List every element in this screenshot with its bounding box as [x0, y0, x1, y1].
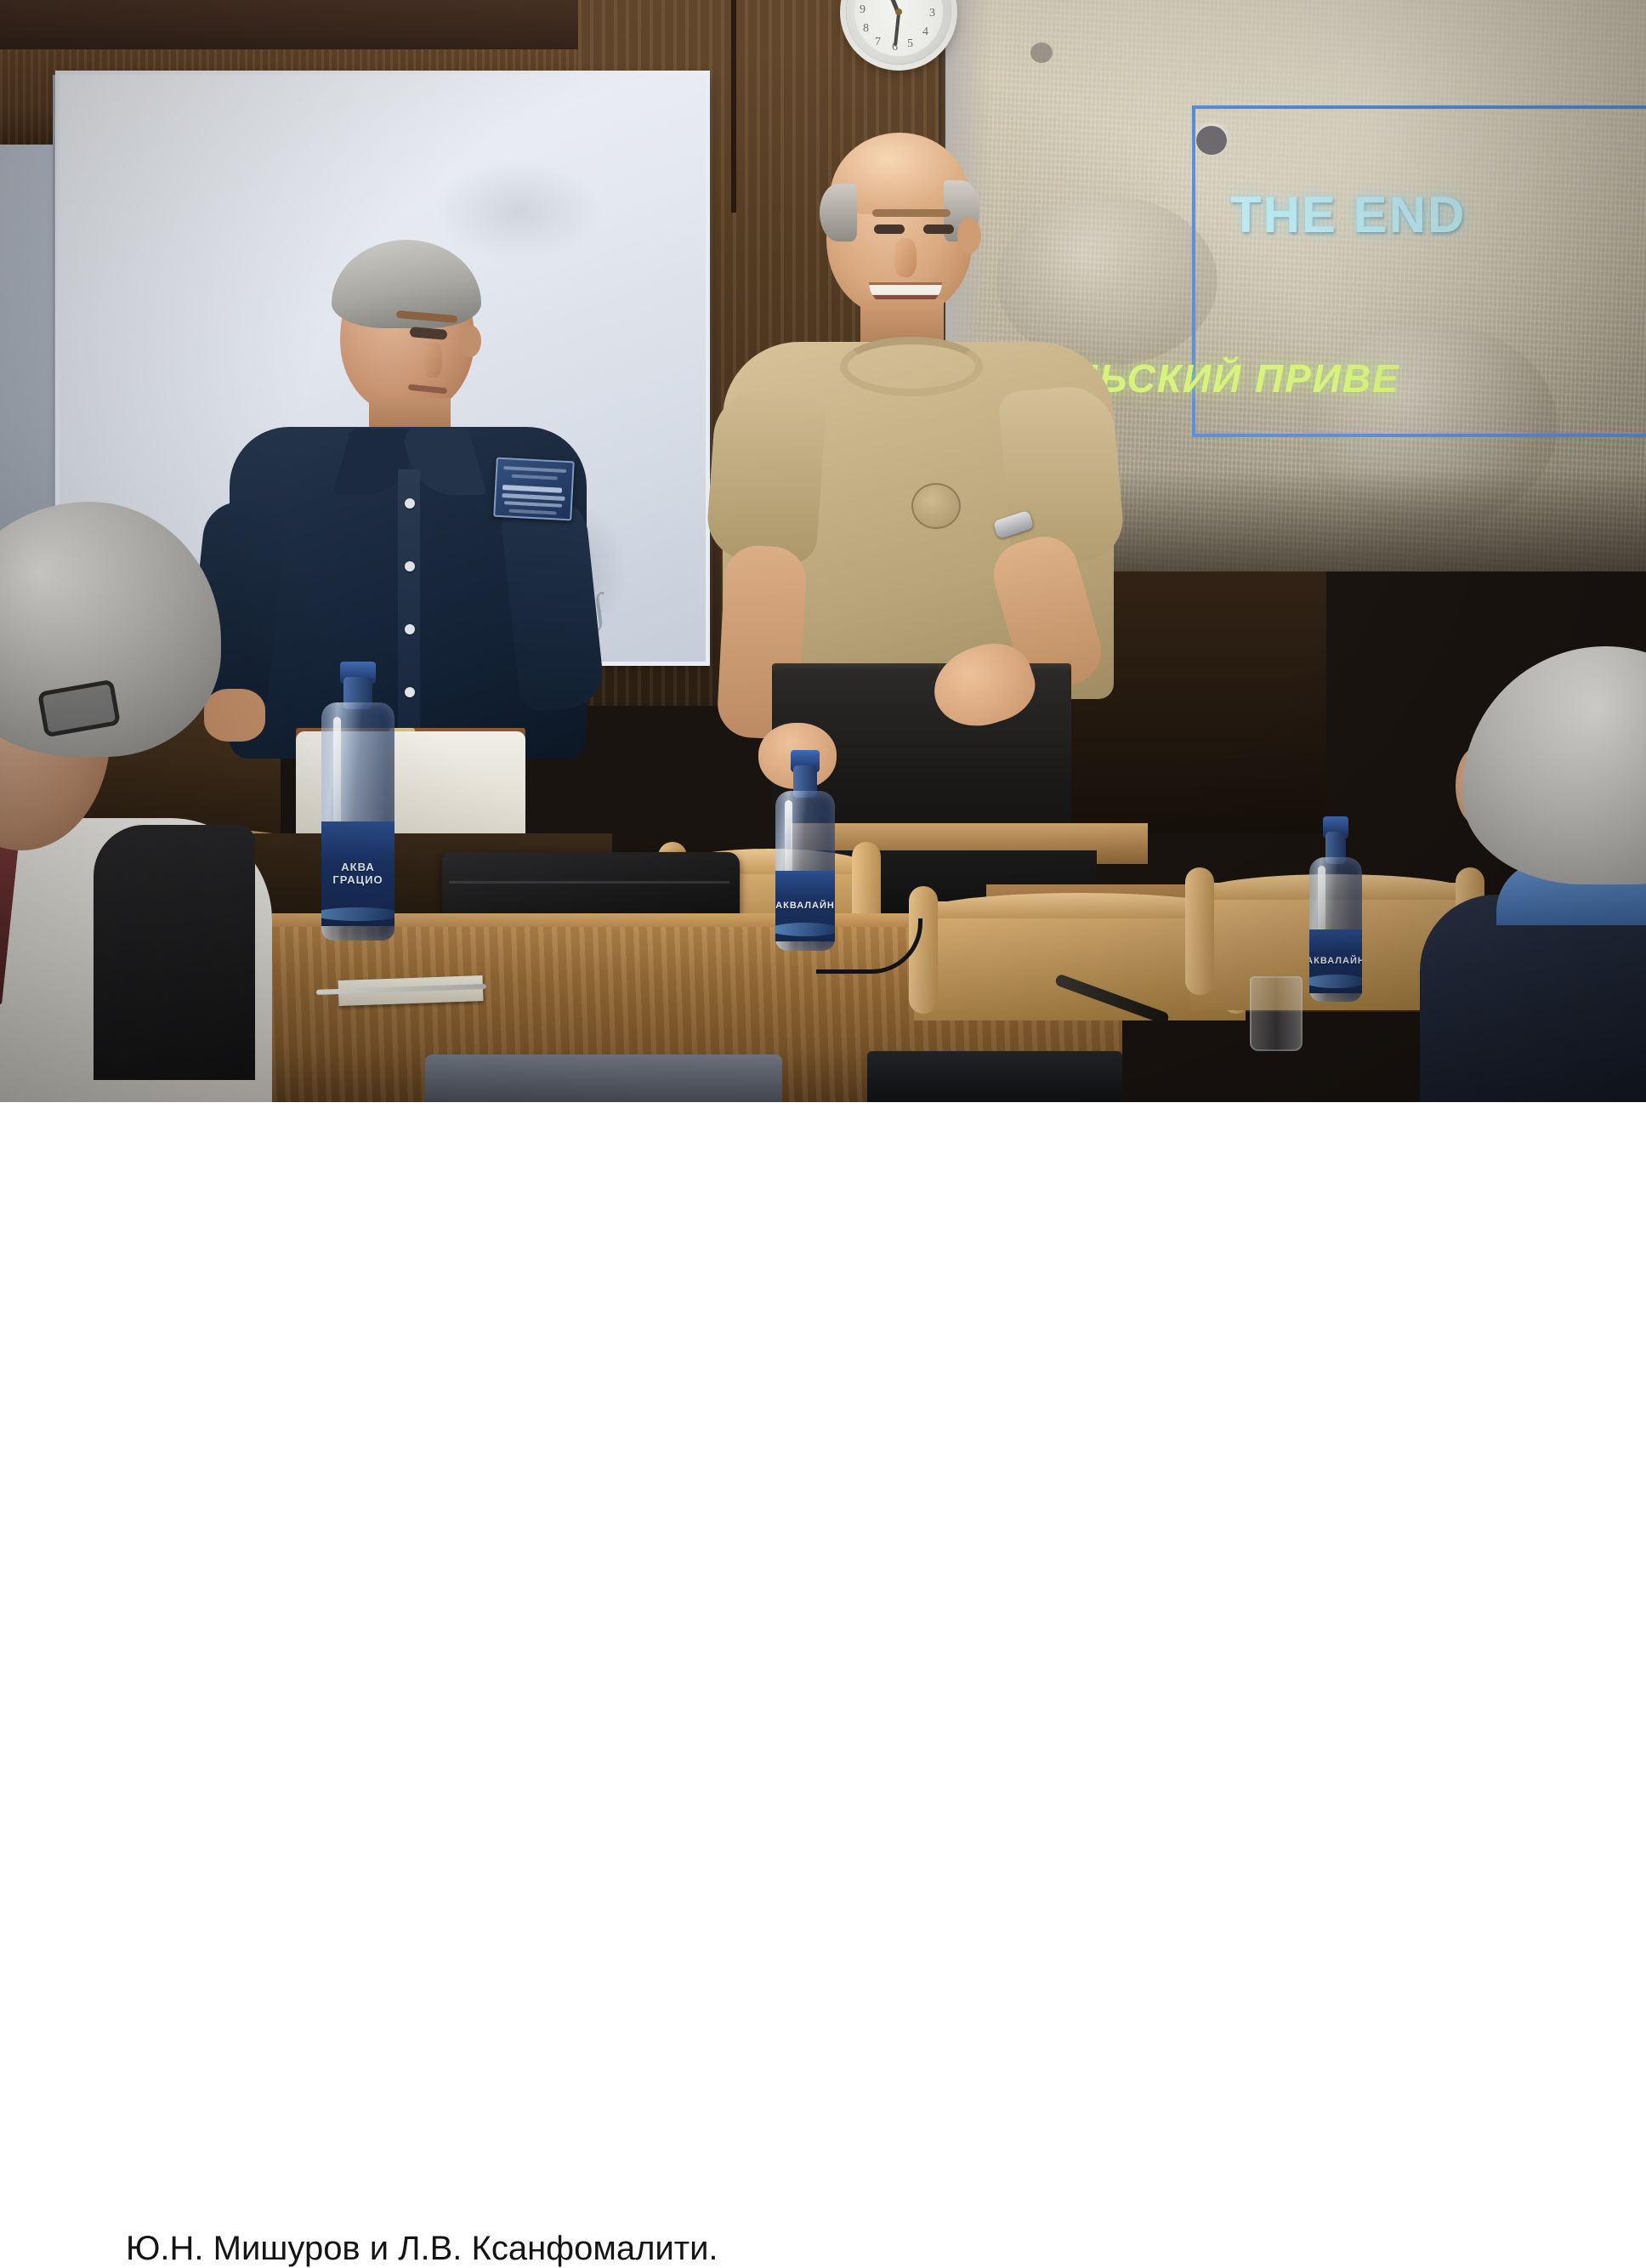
- laptop-foreground-left: [425, 1054, 782, 1102]
- papers-on-table: [338, 975, 484, 1006]
- eyebrow: [872, 209, 951, 217]
- clock-minute-hand: [894, 14, 900, 46]
- bottle-label-wave: [1309, 975, 1362, 988]
- ear: [459, 325, 481, 357]
- clock-numeral: 9: [860, 3, 866, 17]
- badge-line: [502, 493, 565, 501]
- projected-title-text: THE END: [1230, 185, 1466, 244]
- sleeve-left: [705, 388, 827, 566]
- bag-flap-seam: [449, 881, 729, 884]
- clock-numeral: 5: [907, 37, 913, 51]
- bottle-brand-line-2: ГРАЦИО: [332, 874, 383, 887]
- water-bottle-right: АКВАЛАЙН: [1309, 857, 1362, 1002]
- person-right-speaker: [706, 136, 1182, 782]
- badge-line: [502, 485, 562, 493]
- hair-side-left: [820, 184, 857, 242]
- shirt-button: [405, 687, 415, 697]
- eye-right: [923, 225, 954, 234]
- bottle-label: АКВАЛАЙН: [775, 871, 835, 941]
- bottle-label-wave: [321, 907, 394, 921]
- tshirt-collar: [840, 337, 983, 396]
- badge-line: [509, 509, 557, 515]
- shirt-button: [405, 498, 415, 509]
- shirt-placket: [398, 469, 420, 755]
- ear: [957, 218, 981, 253]
- drinking-glass: [1250, 976, 1303, 1051]
- laptop-foreground-right: [867, 1051, 1122, 1102]
- dark-jacket-shoulder: [94, 825, 255, 1080]
- bottle-brand-line-2: АКВАЛАЙН: [1309, 956, 1362, 967]
- pen: [316, 984, 486, 995]
- conference-name-badge: [493, 458, 575, 521]
- photo-caption: Ю.Н. Мишуров и Л.В. Ксанфомалити.: [126, 2230, 718, 2268]
- nose: [423, 342, 442, 378]
- tshirt-chest-logo: [911, 483, 961, 529]
- shirt-button: [405, 561, 415, 571]
- clock-numeral: 8: [863, 22, 869, 36]
- projected-dark-spot: [1030, 43, 1053, 63]
- person-audience-foreground-left: [0, 502, 306, 927]
- caption-bar: Ю.Н. Мишуров и Л.В. Ксанфомалити.: [0, 1102, 1646, 1209]
- badge-line: [503, 466, 566, 473]
- chair-post-left: [1185, 867, 1214, 995]
- bottle-label: АКВАЛАЙН: [1309, 929, 1362, 993]
- badge-line: [504, 501, 562, 508]
- bottle-label: АКВА ГРАЦИО: [321, 821, 394, 926]
- bottle-brand-line-2: АКВАЛАЙН: [775, 901, 835, 912]
- clock-numeral: 4: [922, 26, 928, 39]
- clock-face: 3 4 5 6 7 8 9: [854, 0, 943, 56]
- bottle-label-wave: [775, 923, 835, 936]
- water-bottle-left: АКВА ГРАЦИО: [321, 702, 394, 941]
- shirt-button: [405, 624, 415, 634]
- bottle-brand-line-1: АКВА: [341, 861, 374, 874]
- eye-left: [874, 225, 905, 234]
- water-bottle-center: АКВАЛАЙН: [775, 791, 835, 951]
- badge-line: [512, 475, 558, 480]
- white-hair: [1462, 646, 1646, 884]
- sleeve-right: [997, 384, 1126, 568]
- clock-center-pin: [895, 9, 902, 15]
- person-audience-foreground-right: [1437, 646, 1646, 1102]
- nose: [894, 238, 917, 277]
- conference-photo: ∫ THE END ОЛЬСКИЙ ПРИВЕ 3 4 5 6 7 8 9: [0, 0, 1646, 1102]
- navy-jacket: [1420, 895, 1646, 1102]
- clock-numeral: 3: [929, 7, 935, 20]
- clock-numeral: 7: [875, 36, 881, 49]
